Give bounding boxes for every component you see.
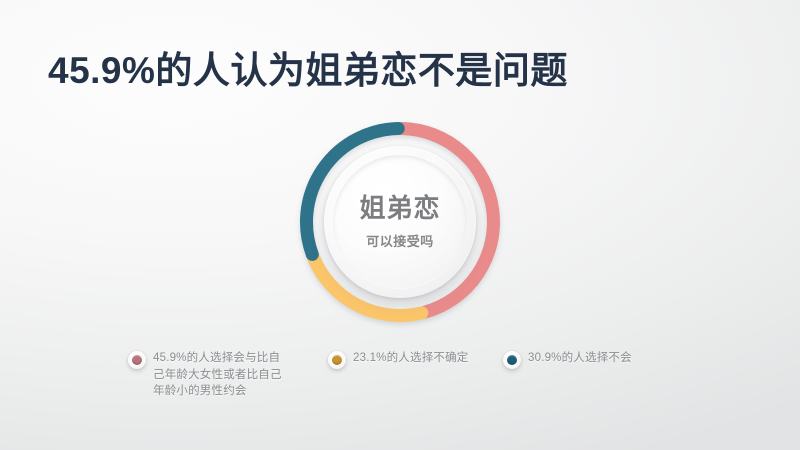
legend-label-2: 30.9%的人选择不会 bbox=[528, 350, 632, 367]
legend-dot-icon-0 bbox=[128, 351, 146, 369]
legend-dot-fill-2 bbox=[507, 355, 517, 365]
legend-dot-fill-0 bbox=[132, 355, 142, 365]
legend-dot-icon-1 bbox=[328, 351, 346, 369]
legend-item-1[interactable]: 23.1%的人选择不确定 bbox=[328, 350, 503, 369]
slide-canvas: 45.9%的人认为姐弟恋不是问题 姐弟恋 可以接受吗 45 bbox=[0, 0, 800, 450]
legend-dot-icon-2 bbox=[503, 351, 521, 369]
donut-chart: 姐弟恋 可以接受吗 bbox=[293, 114, 507, 330]
legend-label-1: 23.1%的人选择不确定 bbox=[353, 350, 469, 367]
page-title: 45.9%的人认为姐弟恋不是问题 bbox=[48, 48, 568, 94]
legend-item-0[interactable]: 45.9%的人选择会与比自己年龄大女性或者比自己年龄小的男性约会 bbox=[128, 350, 328, 400]
donut-inner-disc bbox=[324, 146, 476, 298]
legend-label-0: 45.9%的人选择会与比自己年龄大女性或者比自己年龄小的男性约会 bbox=[153, 350, 289, 400]
chart-legend: 45.9%的人选择会与比自己年龄大女性或者比自己年龄小的男性约会 23.1%的人… bbox=[128, 350, 688, 400]
legend-item-2[interactable]: 30.9%的人选择不会 bbox=[503, 350, 688, 369]
legend-dot-fill-1 bbox=[332, 355, 342, 365]
